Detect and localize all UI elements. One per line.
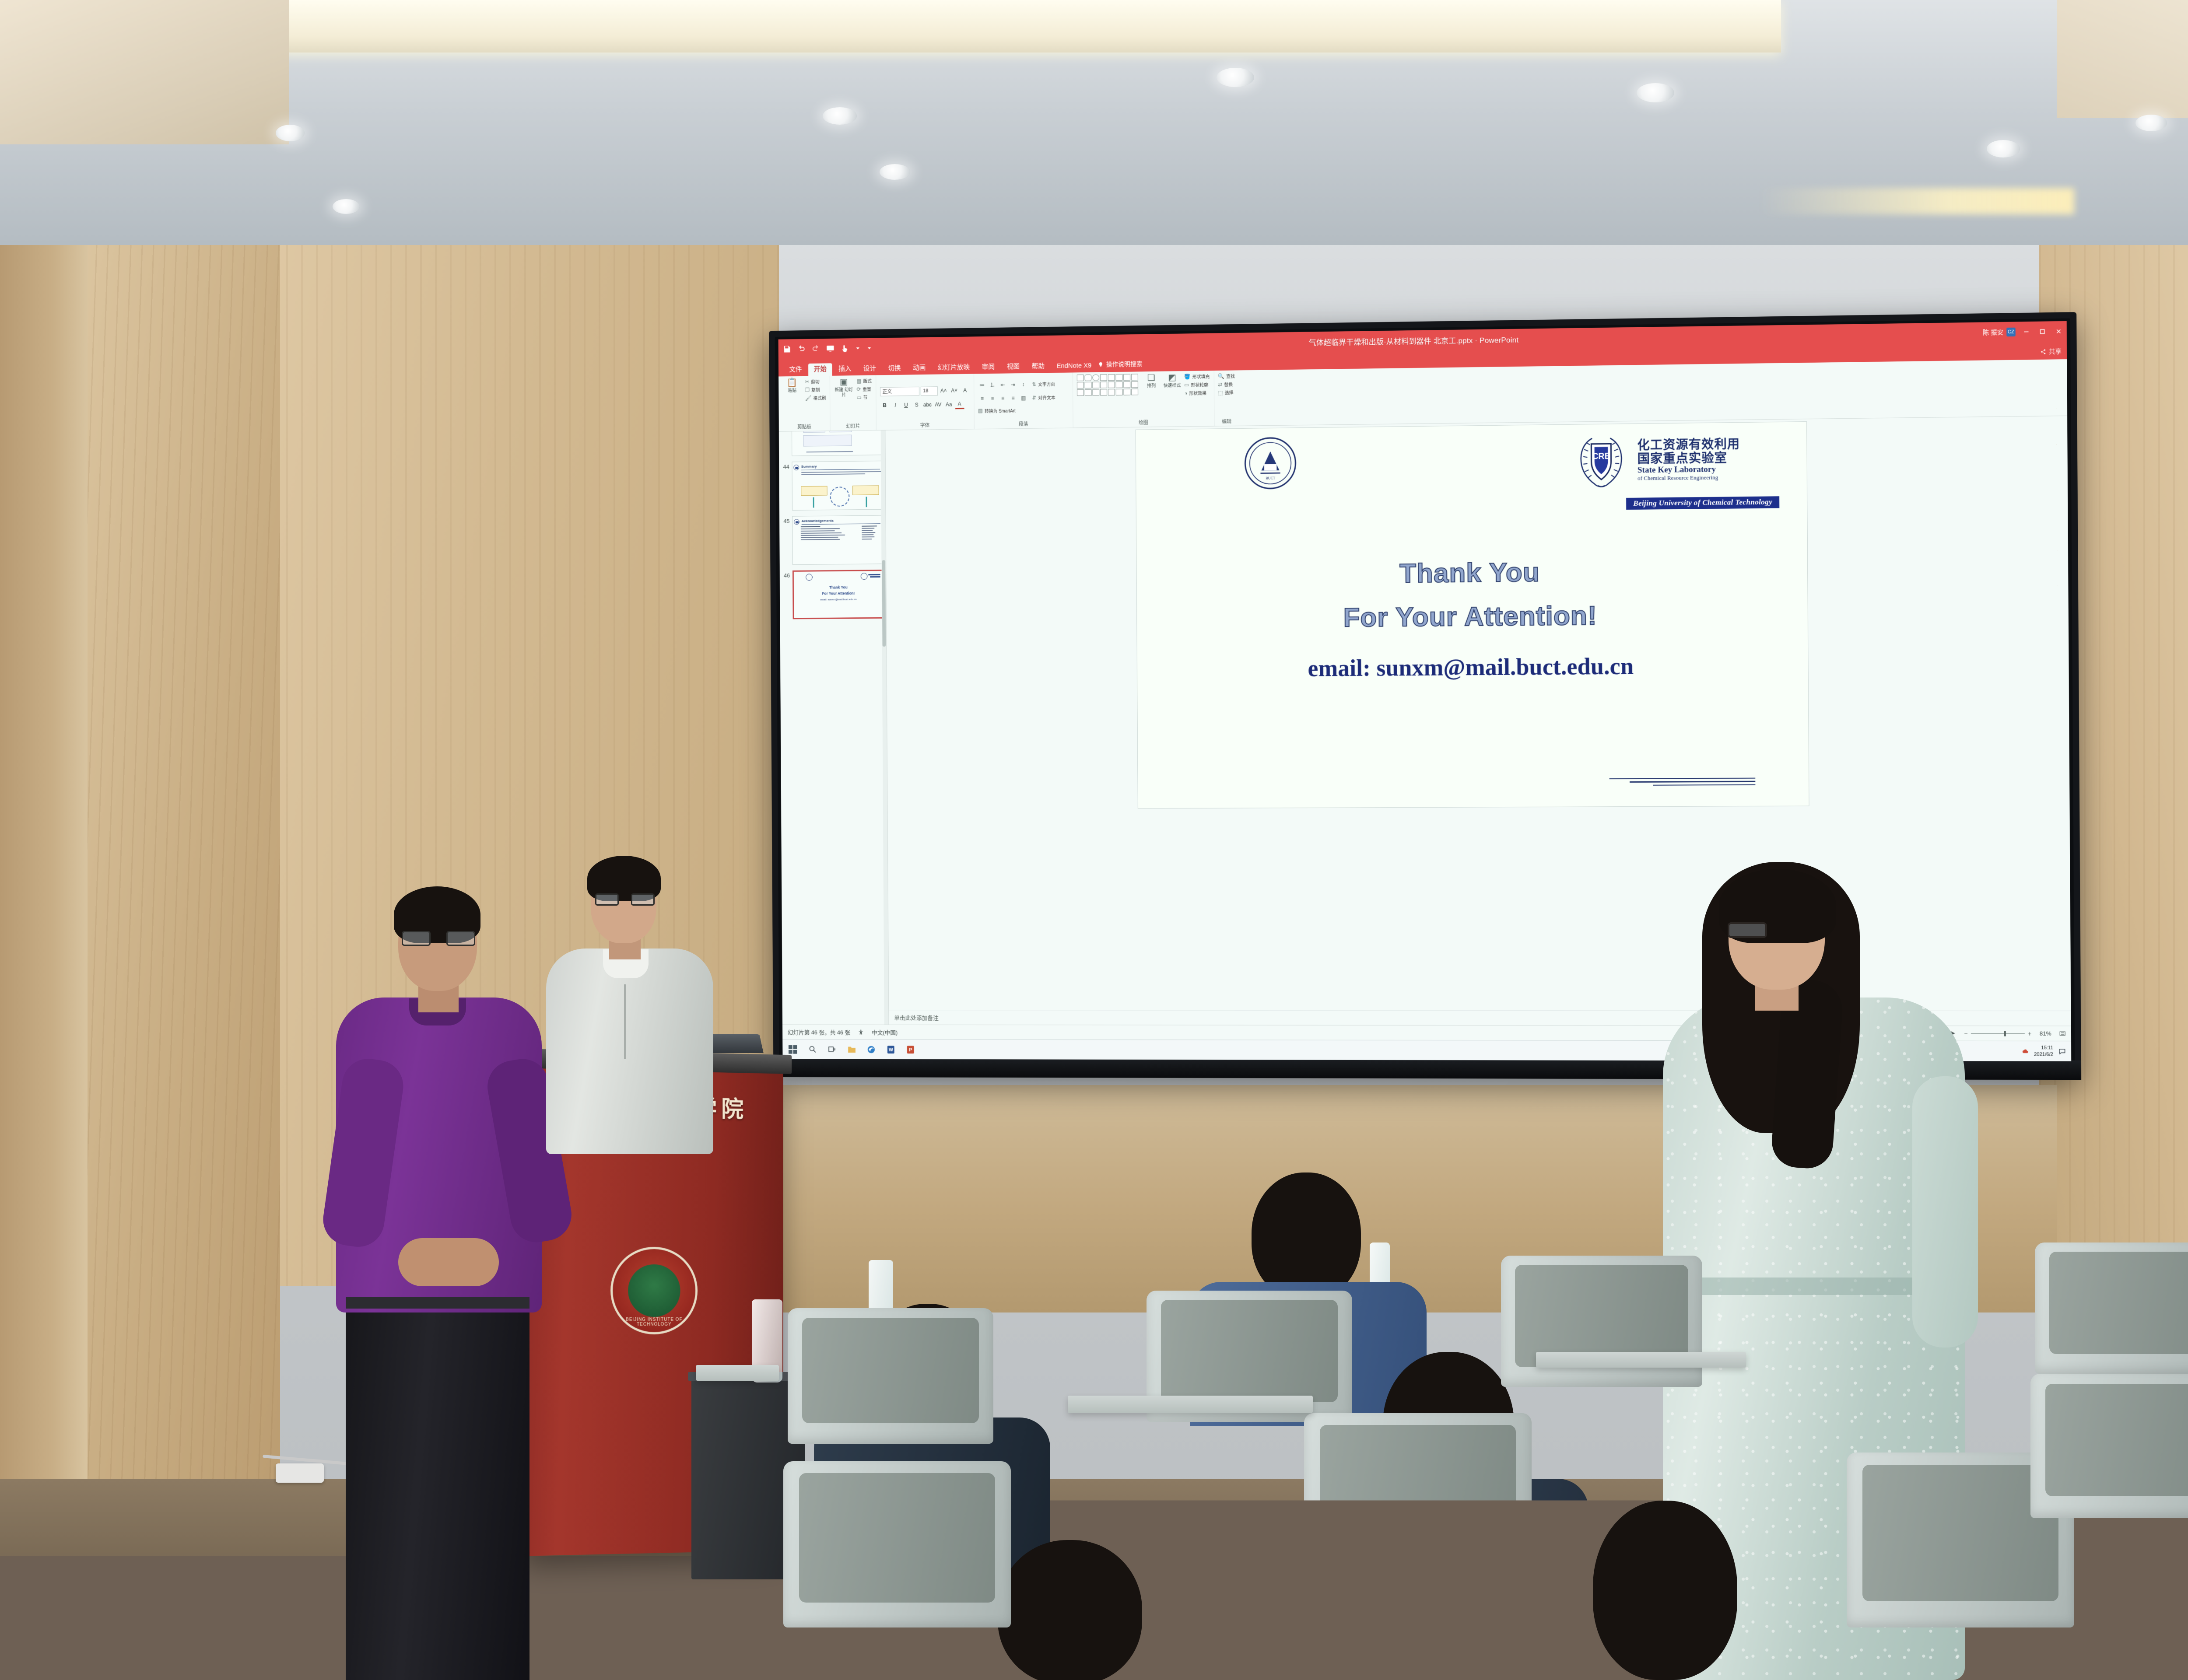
outline-icon: ▭ [1184,381,1189,388]
thumbnail-number: 45 [780,516,789,525]
touch-mode-icon[interactable] [841,344,849,353]
slide-decoration-lines [1609,777,1756,788]
downlight-6 [1637,83,1674,102]
shape-line[interactable] [1115,374,1122,381]
justify-icon[interactable]: ≡ [1009,393,1017,402]
tab-slideshow[interactable]: 幻灯片放映 [932,361,975,374]
close-icon[interactable] [2055,328,2062,335]
reset-button[interactable]: ⟳ 重置 [857,385,872,392]
deco-line-3 [1653,784,1756,786]
acknowledgements-list [801,525,880,541]
editing-body: 🔍 查找 ⇄ 替换 ⬚ 选择 [1218,373,1235,417]
change-case-button[interactable]: Aa [944,400,954,409]
account-chip[interactable]: 陈 振安 CZ [1983,328,2016,337]
paragraph-row-1: ≔ ⒈ ⇤ ⇥ ↕ ⇅ 文字方向 [978,379,1055,389]
fit-to-window-icon[interactable] [2059,1031,2065,1036]
lab-cn-line-2: 国家重点实验室 [1637,451,1740,466]
zoom-track[interactable] [1971,1033,2025,1034]
clock-time[interactable]: 15:11 [2034,1045,2053,1051]
shape-fill-button[interactable]: 🪣 形状填充 [1184,373,1210,380]
shape-curve[interactable] [1123,381,1130,388]
shirt-placket [624,984,626,1059]
lectern-emblem-inner [628,1264,680,1317]
down-arrow-right [866,497,867,507]
lab-cn-line-1: 化工资源有效利用 [1637,437,1740,452]
thumbnail-row-45[interactable]: 45 Acknowledgements [780,515,884,565]
clock-date[interactable]: 2021/6/2 [2034,1051,2053,1058]
paste-label: 粘贴 [788,388,797,394]
ribbon-group-paragraph: ≔ ⒈ ⇤ ⇥ ↕ ⇅ 文字方向 ≡ [974,372,1073,429]
belt [346,1297,529,1309]
language-indicator[interactable]: 中文(中国) [872,1028,898,1036]
tab-help[interactable]: 帮助 [1026,360,1050,373]
paste-button[interactable]: 📋 粘贴 [782,378,802,394]
downlight-1 [276,125,305,141]
taskview-icon[interactable] [827,1044,837,1055]
tab-endnote[interactable]: EndNote X9 [1051,360,1097,373]
brush-icon: 🖌 [805,395,812,401]
font-color-button[interactable]: A [955,400,964,409]
current-slide[interactable]: BUCT [1136,422,1809,808]
deco-line-2 [1630,781,1755,783]
clipboard-body: 📋 粘贴 ✂ 剪切 ❐ 复制 [782,378,826,423]
ribbon-group-clipboard: 📋 粘贴 ✂ 剪切 ❐ 复制 [778,376,831,431]
zoom-in-icon[interactable]: + [2028,1030,2032,1037]
chair-pad [1161,1300,1338,1402]
text-direction-button[interactable]: ⇅ 文字方向 [1032,381,1055,388]
customize-icon[interactable] [866,345,872,351]
university-banner: Beijing University of Chemical Technolog… [1626,496,1779,510]
downlight-4 [880,164,910,180]
chair-6 [1304,1413,1532,1579]
thumbnail-email: email: sunxm@mail.buct.edu.cn [797,598,880,602]
ribbon-group-slides: ▣ 新建 幻灯片 ▤ 版式 ⟳ 重置 [830,375,876,431]
thumbnail-body-lines [801,471,880,475]
word-icon[interactable]: W [886,1044,896,1055]
thumbnail-title: Summary [801,464,880,469]
chair-pad [1320,1425,1515,1554]
slides-small-buttons: ▤ 版式 ⟳ 重置 ▭ 节 [856,378,872,401]
replace-button[interactable]: ⇄ 替换 [1218,381,1235,387]
select-label: 选择 [1225,389,1234,395]
shape-cylinder[interactable] [1100,381,1107,388]
clipboard-group-label: 剪贴板 [783,422,827,430]
lectern-emblem: BEIJING INSTITUTE OF TECHNOLOGY [610,1246,698,1334]
line-spacing-icon[interactable]: ↕ [1019,380,1028,388]
decrease-indent-icon[interactable]: ⇤ [999,380,1007,389]
undo-icon[interactable] [797,345,806,353]
slides-body: ▣ 新建 幻灯片 ▤ 版式 ⟳ 重置 [834,378,872,422]
copy-label: 复制 [811,386,820,393]
tab-file[interactable]: 文件 [784,364,808,376]
font-row-2: B I U S abc AV Aa A [880,400,964,410]
format-painter-button[interactable]: 🖌 格式刷 [805,394,826,401]
shape-cloud[interactable] [1108,389,1115,395]
select-button[interactable]: ⬚ 选择 [1218,389,1235,395]
shape-chevron[interactable] [1115,381,1122,388]
system-tray: 15:11 2021/6/2 [2022,1045,2066,1057]
font-body: 正文 18 A˄ A˅ A B I [880,376,970,422]
figure-b [829,430,852,433]
editing-group-label: 编辑 [1218,417,1235,425]
start-slideshow-icon[interactable] [826,344,835,353]
folded-hands [398,1238,499,1286]
paragraph-group-label: 段落 [978,419,1069,428]
chair-pad [2045,1384,2188,1496]
arrange-label: 排列 [1147,384,1156,389]
deco-line-1 [1609,777,1756,779]
drawing-arrange-block: ❏ 排列 [1143,374,1160,389]
underline-button[interactable]: U [901,400,911,409]
ceiling-light-cove [280,0,1781,52]
quick-access-toolbar[interactable] [782,344,872,354]
state-key-lab-logo: CRE 化工资源有效利用 国家重点实验室 State Key Laborator… [1572,430,1740,490]
tab-transitions[interactable]: 切换 [883,362,907,375]
font-size-box[interactable]: 18 [920,386,937,395]
shadow-button[interactable]: S [912,400,922,409]
thumbnail-selected[interactable]: Thank You For Your Attention! email: sun… [792,570,884,619]
audience-head-5 [1593,1501,1737,1680]
thumbnail-row-46[interactable]: 46 Thank You For Your Attention! email [781,570,884,619]
quick-styles-button[interactable]: ◩ 快速样式 [1163,373,1182,388]
right-arm [1912,1076,1978,1347]
downlight-7 [1987,140,2020,157]
user-name: 陈 振安 [1983,328,2003,337]
search-icon: 🔍 [1218,373,1224,379]
slide-counter: 幻灯片第 46 张，共 46 张 [788,1028,851,1036]
lab-en-line-1: State Key Laboratory [1637,465,1740,475]
smartart-icon: ▧ [978,408,983,414]
ack-column-left [801,526,852,542]
drawing-quickstyle-block: ◩ 快速样式 [1163,373,1182,388]
bold-button[interactable]: B [880,401,890,410]
figure-c [803,435,852,447]
arrange-button[interactable]: ❏ 排列 [1143,374,1160,389]
clipboard-small-buttons: ✂ 剪切 ❐ 复制 🖌 格式刷 [805,378,826,401]
slide-thumbnail-pane[interactable]: 43 [779,430,889,1025]
font-row-1: 正文 18 A˄ A˅ A [880,386,970,396]
numbering-icon[interactable]: ⒈ [988,380,997,389]
reset-icon: ⟳ [857,386,861,392]
reset-label: 重置 [863,385,871,392]
ribbon-group-drawing: ❏ 排列 ◩ 快速样式 [1073,371,1214,427]
new-slide-button[interactable]: ▣ 新建 幻灯片 [834,378,854,398]
shape-cube[interactable] [1108,381,1115,388]
layout-button[interactable]: ▤ 版式 [856,378,872,384]
audience-head-1 [1252,1172,1361,1299]
shape-heart[interactable] [1100,389,1107,395]
copy-button[interactable]: ❐ 复制 [805,386,826,393]
redo-icon[interactable] [812,344,820,353]
thumbnail[interactable] [792,430,884,456]
layout-icon: ▤ [856,378,861,384]
person-speaker [538,844,722,1159]
slide-line-2: For Your Attention! [1137,598,1808,635]
section-label: 节 [863,394,868,400]
shape-fill-label: 形状填充 [1192,373,1210,379]
text-direction-icon: ⇅ [1032,381,1036,387]
shape-arrow[interactable] [1108,374,1115,381]
cut-label: 剪切 [811,378,820,385]
ceiling-edge-right [2057,0,2188,118]
drawing-body: ❏ 排列 ◩ 快速样式 [1076,373,1210,419]
shape-diamond[interactable] [1123,374,1130,381]
drawing-group-label: 绘图 [1077,417,1210,427]
slides-group-label: 幻灯片 [834,421,872,430]
convert-smartart-label: 转换为 SmartArt [985,407,1016,414]
onedrive-icon[interactable] [2022,1048,2028,1054]
svg-text:W: W [889,1047,894,1053]
chair-8 [2030,1374,2188,1518]
cut-button[interactable]: ✂ 剪切 [805,378,826,385]
tab-design[interactable]: 设计 [858,363,882,375]
eyeglasses [402,931,475,946]
minimize-icon[interactable] [2023,328,2030,335]
left-concept-box [801,486,827,496]
quick-styles-label: 快速样式 [1164,383,1181,388]
thumbnail-title: Acknowledgements [802,518,880,523]
shape-connector[interactable] [1123,388,1130,395]
thumbnail-row-43[interactable]: 43 [779,430,883,456]
save-icon[interactable] [782,345,791,353]
title-bar-right: 陈 振安 CZ [1983,327,2062,337]
share-icon [2040,349,2046,354]
tell-me-search[interactable]: 操作说明搜索 [1098,360,1143,372]
align-right-icon[interactable]: ≡ [999,394,1007,402]
shirt [546,948,713,1154]
shape-star[interactable] [1076,382,1083,388]
thumbnail-row-44[interactable]: 44 Summary [780,461,884,511]
thumbnail[interactable]: Acknowledgements [792,515,884,565]
align-left-icon[interactable]: ≡ [978,394,987,402]
eyeglasses [595,893,655,906]
svg-text:P: P [909,1047,912,1053]
select-icon: ⬚ [1218,389,1223,395]
character-spacing-button[interactable]: AV [933,400,943,409]
audience-head-4 [998,1540,1142,1680]
italic-button[interactable]: I [891,401,900,410]
section-button[interactable]: ▭ 节 [857,394,872,400]
tab-insert[interactable]: 插入 [833,363,857,375]
convert-smartart-button[interactable]: ▧ 转换为 SmartArt [978,407,1016,414]
tab-home[interactable]: 开始 [808,363,832,376]
shape-effects-button[interactable]: ◑ 形状效果 [1184,389,1210,396]
shape-more[interactable] [1131,388,1138,395]
buct-university-seal-icon: BUCT [1243,436,1297,490]
right-concept-box [852,485,879,495]
shapes-gallery[interactable] [1076,374,1138,396]
share-label: 共享 [2049,347,2062,356]
shape-freeform[interactable] [1131,381,1138,388]
shape-moon[interactable] [1092,389,1099,395]
paragraph-row-2: ≡ ≡ ≡ ≡ ▥ ⇵ 对齐文本 [978,393,1055,402]
chair-pad [2049,1252,2188,1354]
chair-pad [802,1318,979,1424]
downlight-2 [333,199,360,214]
cycle-diagram [830,486,849,507]
downlight-8 [2135,115,2167,131]
decrease-font-size-icon[interactable]: A˅ [950,386,959,395]
chair-pad [799,1473,995,1603]
thumbnail-content [792,430,883,456]
fill-icon: 🪣 [1184,373,1191,379]
chair-1 [788,1308,993,1444]
tray-on-cabinet [696,1365,779,1381]
notes-placeholder: 单击此处添加备注 [894,1013,939,1022]
title-rule [801,469,880,470]
powerpoint-icon[interactable]: P [905,1044,916,1055]
drawing-small-buttons: 🪣 形状填充 ▭ 形状轮廓 ◑ 形状效果 [1184,373,1210,396]
shape-effects-label: 形状效果 [1189,389,1206,396]
find-label: 查找 [1226,373,1235,379]
text-direction-label: 文字方向 [1038,381,1055,387]
accessibility-icon[interactable] [858,1029,864,1035]
tab-view[interactable]: 视图 [1001,360,1025,373]
shape-outline-button[interactable]: ▭ 形状轮廓 [1184,381,1210,388]
figure-caption [806,451,853,452]
chair-pad [1862,1465,2058,1601]
tab-animations[interactable]: 动画 [907,362,931,374]
slide-badge-icon [794,519,799,525]
scissors-icon: ✂ [805,378,809,385]
slide-line-1: Thank You [1136,554,1807,591]
slide-email: email: sunxm@mail.buct.edu.cn [1137,651,1808,683]
ribbon-group-font: 正文 18 A˄ A˅ A B I [876,374,975,430]
eyeglasses [1728,922,1767,938]
copy-icon: ❐ [805,387,810,393]
font-name-box[interactable]: 正文 [880,386,919,396]
restore-icon[interactable] [2039,328,2046,335]
thumbnail[interactable]: Summary [792,461,884,511]
columns-icon[interactable]: ▥ [1019,393,1028,402]
lectern-emblem-text: BEIJING INSTITUTE OF TECHNOLOGY [613,1317,695,1327]
clear-formatting-icon[interactable]: A [960,386,970,395]
increase-indent-icon[interactable]: ⇥ [1009,380,1017,389]
increase-font-size-icon[interactable]: A˄ [939,386,948,395]
shape-rect[interactable] [1076,374,1083,381]
lab-en-line-2: of Chemical Resource Engineering [1637,474,1740,482]
bullets-icon[interactable]: ≔ [978,380,987,389]
new-slide-label: 新建 幻灯片 [834,388,854,398]
floor-socket [276,1463,324,1483]
cre-shield-icon: CRE [1572,431,1630,490]
thumbnail-content: Acknowledgements [792,515,884,564]
zoom-level[interactable]: 81% [2040,1030,2051,1037]
wood-wall-left-dark [0,61,88,1680]
align-text-button[interactable]: ⇵ 对齐文本 [1032,394,1055,401]
zoom-knob[interactable] [2004,1031,2006,1036]
font-name-value: 正文 [882,388,892,395]
ribbon-group-editing: 🔍 查找 ⇄ 替换 ⬚ 选择 [1214,370,1239,426]
chair-4 [2035,1242,2188,1374]
shape-bracket[interactable] [1077,389,1084,396]
trousers [346,1299,529,1680]
lecture-hall-scene: 气体超临界干燥和出版·从材料到器件 北京工.pptx · PowerPoint … [0,0,2188,1680]
align-center-icon[interactable]: ≡ [988,394,997,402]
avatar[interactable]: CZ [2006,328,2016,337]
format-painter-label: 格式刷 [813,394,826,401]
svg-text:CRE: CRE [1592,452,1610,462]
paragraph-row-3: ▧ 转换为 SmartArt [978,407,1016,414]
shape-banner[interactable] [1092,382,1099,388]
font-group-label: 字体 [880,420,970,429]
replace-label: 替换 [1224,381,1233,387]
layout-label: 版式 [863,378,872,384]
shape-triangle[interactable] [1100,374,1107,381]
dress-waistband [1689,1277,1943,1295]
thumbnail-content: Summary [792,461,883,510]
search-icon[interactable] [807,1044,817,1054]
shape-flowchart[interactable] [1115,389,1122,395]
ceiling-edge-left [0,0,289,144]
downlight-5 [1217,68,1254,87]
thumbnail-number: 46 [781,570,790,579]
thumbnail-subtitle: For Your Attention! [797,591,880,596]
slide-badge-icon [793,465,799,470]
replace-icon: ⇄ [1218,381,1222,387]
effects-icon: ◑ [1184,390,1187,396]
thumbnail-number: 44 [780,462,789,470]
paragraph-body: ≔ ⒈ ⇤ ⇥ ↕ ⇅ 文字方向 ≡ [978,375,1069,420]
shape-rounded[interactable] [1084,374,1091,381]
font-size-value: 18 [923,388,928,394]
thumbnail-content: Thank You For Your Attention! email: sun… [794,571,883,618]
wall-glow-right [1759,188,2074,214]
notifications-icon[interactable] [2058,1048,2066,1054]
new-slide-icon: ▣ [840,378,848,386]
tell-me-label: 操作说明搜索 [1106,360,1143,369]
downlight-3 [823,107,857,125]
chair-5 [783,1461,1011,1627]
person-purple-shirt [333,871,560,1680]
thumbnail-scroll-knob[interactable] [882,560,886,647]
align-text-icon: ⇵ [1032,395,1036,401]
start-icon[interactable] [788,1044,798,1054]
window-controls[interactable] [2023,328,2062,335]
arrange-icon: ❏ [1147,374,1155,382]
tab-review[interactable]: 审阅 [976,361,1000,374]
shape-plus[interactable] [1084,389,1091,396]
cre-shield-icon [861,573,868,580]
quick-styles-icon: ◩ [1168,373,1176,382]
left-seal-icon [806,574,813,581]
align-text-label: 对齐文本 [1038,394,1055,401]
shape-outline-label: 形状轮廓 [1191,381,1208,388]
find-button[interactable]: 🔍 查找 [1218,373,1235,379]
thumbnail-title: Thank You [797,585,880,590]
section-icon: ▭ [857,394,862,400]
lightbulb-icon [1098,361,1104,367]
audience-desk-1 [1068,1396,1313,1413]
strikethrough-button[interactable]: abc [922,400,932,409]
paste-icon: 📋 [787,378,797,387]
folder-icon[interactable] [846,1044,857,1055]
chevron-down-icon[interactable] [855,345,861,351]
down-arrow-left [813,497,814,508]
shape-oval[interactable] [1092,374,1099,381]
shape-callout[interactable] [1084,382,1091,388]
svg-text:BUCT: BUCT [1266,476,1275,480]
edge-icon[interactable] [866,1044,877,1055]
share-button[interactable]: 共享 [2040,347,2061,360]
editing-small-buttons: 🔍 查找 ⇄ 替换 ⬚ 选择 [1218,373,1235,396]
ack-column-right [862,525,880,541]
shape-pentagon[interactable] [1131,374,1138,380]
lab-name-block: 化工资源有效利用 国家重点实验室 State Key Laboratory of… [1637,437,1740,482]
audience-desk-2 [1536,1352,1746,1368]
title-rule [802,523,880,525]
